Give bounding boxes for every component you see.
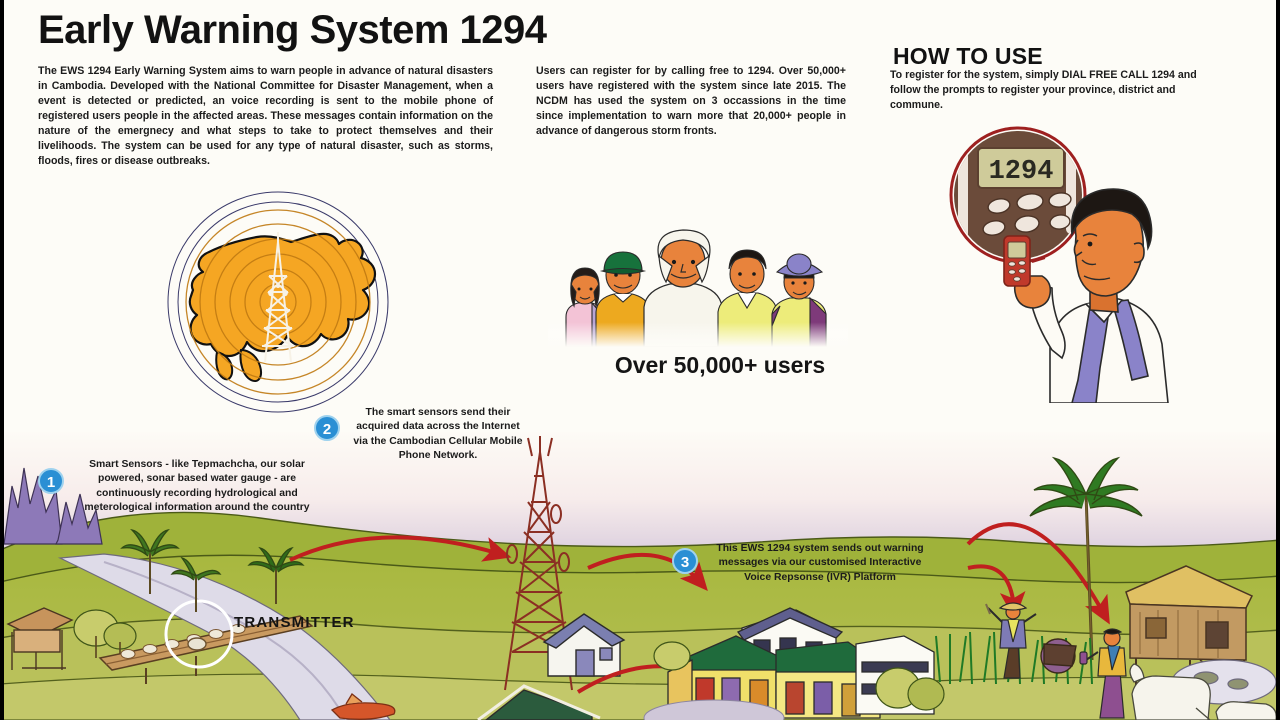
- water-gauge-sensor-icon: [188, 638, 206, 650]
- infographic-poster: Early Warning System 1294 The EWS 1294 E…: [0, 0, 1280, 720]
- how-to-use-emphasis: DIAL FREE CALL 1294: [1062, 69, 1175, 81]
- stats-paragraph: Users can register for by calling free t…: [536, 64, 846, 139]
- ox-cart: [1041, 639, 1076, 673]
- callout-2-number: 2: [314, 415, 340, 441]
- letterbox-left-edge: [0, 0, 4, 720]
- users-count-caption: Over 50,000+ users: [560, 352, 880, 379]
- dial-1294-illustration: 1294: [900, 118, 1185, 403]
- callout-1-text: Smart Sensors - like Tepmachcha, our sol…: [72, 458, 322, 515]
- cambodia-map-icon: [145, 190, 415, 415]
- how-to-use-heading: HOW TO USE: [893, 43, 1043, 70]
- transmitter-label: TRANSMITTER: [234, 614, 355, 631]
- letterbox-right-edge: [1276, 0, 1280, 720]
- callout-1-number: 1: [38, 468, 64, 494]
- man-with-phone-icon: 1294: [900, 118, 1185, 403]
- callout-2-text: The smart sensors send their acquired da…: [348, 406, 528, 463]
- five-people-icon: [548, 222, 848, 347]
- page-title: Early Warning System 1294: [38, 8, 546, 53]
- cambodia-coverage-map: [145, 190, 415, 415]
- callout-3-text: This EWS 1294 system sends out warning m…: [704, 542, 936, 585]
- users-group-illustration: [548, 222, 848, 347]
- how-to-use-line-1: To register for the system, simply: [890, 69, 1062, 81]
- how-to-use-paragraph: To register for the system, simply DIAL …: [890, 68, 1230, 113]
- phone-screen-value: 1294: [989, 157, 1054, 187]
- callout-3-number: 3: [672, 548, 698, 574]
- intro-paragraph: The EWS 1294 Early Warning System aims t…: [38, 64, 493, 169]
